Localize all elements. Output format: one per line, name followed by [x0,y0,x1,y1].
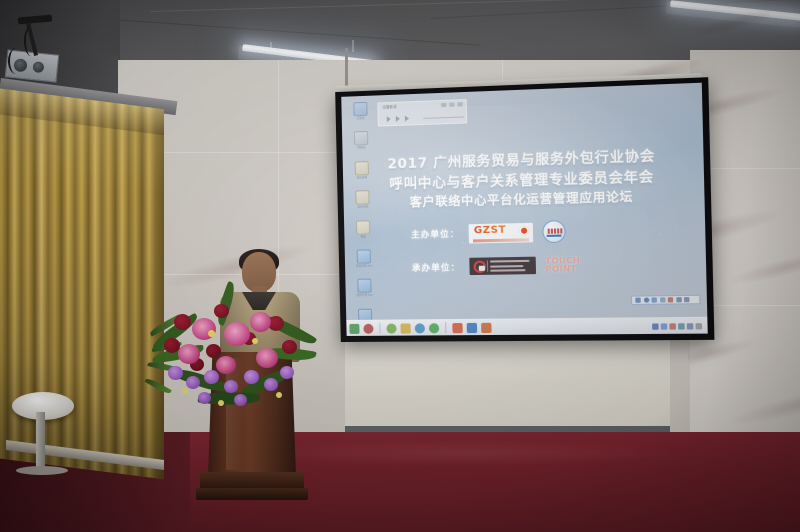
floating-tray-widget[interactable] [631,295,701,305]
document-icon [357,279,371,293]
logo-text-line [490,269,525,272]
widget-icon-6[interactable] [676,297,682,302]
widget-icon-3[interactable] [651,297,657,302]
orchid-bloom [244,370,259,384]
sponsor-row-organizer: 主办单位： GZST [396,220,566,246]
carpet-highlight [250,440,680,466]
taskbar-icon-media[interactable] [452,322,462,332]
circle-logo-base [547,235,562,237]
circle-logo-bars [548,228,563,233]
play-icon[interactable] [396,116,400,122]
taskbar-system-tray[interactable] [652,323,704,330]
desktop-icon-recycle[interactable]: 回收站 [346,131,376,150]
accent-flower [218,400,224,406]
accent-flower [276,392,282,398]
screen-ceiling-bracket [345,48,348,90]
tray-icon-misc[interactable] [695,323,702,329]
rose-bloom [282,340,297,354]
media-player-window[interactable]: 迅雷影音 [377,99,467,127]
media-player-seek-bar[interactable] [423,116,464,118]
desktop-icon-doc-1[interactable]: 年会议程.doc [349,249,379,268]
desktop-icon-label: 回收站 [346,146,376,150]
slide-title-block: 2017 广州服务贸易与服务外包行业协会 呼叫中心与客户关系管理专业委员会年会 … [343,146,705,214]
next-icon[interactable] [405,115,409,121]
projected-image: 计算机 回收站 会议资料 演示文稿 视频 [341,83,707,336]
tray-icon-volume[interactable] [661,323,668,329]
taskbar-divider [379,323,380,334]
bar-stool-base [16,466,68,475]
document-icon [357,249,371,263]
desktop-icon-label: 计算机 [346,117,376,121]
desktop-icon-doc-2[interactable]: 嘉宾名单.doc [349,279,379,298]
desktop-icon-column: 计算机 回收站 会议资料 演示文稿 视频 [345,102,380,336]
minimize-icon[interactable] [441,103,446,107]
close-icon[interactable] [458,102,463,106]
touch-point-logo: TOUCH POINT [545,256,592,274]
sponsor-label-coorganizer: 承办单位： [397,260,460,273]
widget-icon-2[interactable] [643,297,649,302]
accent-flower [252,338,258,344]
rose-bloom [206,344,221,358]
tray-icon-security[interactable] [669,323,676,329]
widget-icon-5[interactable] [668,297,674,302]
podium-plinth [196,488,308,500]
lily-bloom [250,312,271,332]
orchid-bloom [224,380,238,393]
orchid-bloom [234,394,247,406]
orchid-bloom [280,366,294,379]
widget-icon-4[interactable] [660,297,666,302]
wall-lower-panel [345,338,670,428]
orchid-bloom [198,392,211,404]
previous-icon[interactable] [387,116,391,122]
accent-flower [182,388,188,394]
association-circle-logo [542,220,566,243]
tray-icon-network[interactable] [652,323,659,329]
projection-screen: 计算机 回收站 会议资料 演示文稿 视频 [335,77,714,342]
c-mark-icon [473,260,486,272]
desktop-icon-computer[interactable]: 计算机 [345,102,375,122]
taskbar-icon-explorer[interactable] [400,323,410,333]
tray-icon-input[interactable] [678,323,685,329]
stage-curtain [0,88,164,479]
widget-icon-1[interactable] [635,298,640,303]
taskbar-icon-camera[interactable] [467,322,478,332]
sponsor-label-organizer: 主办单位： [396,227,459,240]
media-player-window-buttons [441,102,463,107]
gzst-logo: GZST [469,222,534,243]
desktop-icon-folder-3[interactable]: 视频 [348,220,378,239]
logo-text-line [490,265,523,268]
speaker-cable [8,48,24,74]
taskbar-icon-browser[interactable] [349,323,359,333]
taskbar-icon-ppt[interactable] [481,322,492,332]
taskbar-icon-qq[interactable] [363,323,373,333]
rose-bloom [174,314,191,330]
tray-icon-update[interactable] [687,323,694,329]
curtain-shading [0,88,164,479]
conference-hall-photo: 计算机 回收站 会议资料 演示文稿 视频 [0,0,800,532]
windows-taskbar[interactable] [346,317,707,336]
speaker-cone-icon [32,61,44,73]
lily-bloom [216,356,236,374]
bar-stool-stem [36,412,45,470]
logo-divider [487,261,488,272]
lily-bloom [256,348,278,368]
lily-bloom [224,322,250,346]
taskbar-icon-ie[interactable] [415,323,425,333]
lily-bloom [178,344,200,364]
desktop-icon-label: 视频 [348,235,378,239]
orchid-bloom [204,370,219,384]
folder-icon [356,220,370,234]
dark-c-logo [469,257,536,275]
rose-bloom [214,304,229,318]
speaker-cable [24,26,38,56]
recycle-bin-icon [354,131,368,146]
sponsor-row-coorganizer: 承办单位： TOUCH POINT [397,256,592,276]
widget-icon-7[interactable] [684,297,690,302]
orchid-bloom [168,366,183,380]
flower-arrangement [152,300,312,418]
computer-icon [353,102,367,117]
gzst-logo-subtitle [473,238,529,242]
gear-icon [519,225,529,234]
taskbar-icon-chrome[interactable] [386,323,396,333]
orchid-bloom [264,378,278,391]
orchid-bloom [186,376,200,389]
desktop-icon-label: 嘉宾名单.doc [350,294,380,298]
media-player-controls [387,115,409,122]
taskbar-icon-wechat[interactable] [429,323,439,333]
gzst-logo-text: GZST [474,224,506,236]
accent-flower [208,330,215,337]
maximize-icon[interactable] [449,103,454,107]
logo-text-line [490,260,530,263]
desktop-icon-label: 年会议程.doc [349,264,379,268]
touch-point-line-2: POINT [545,264,577,274]
taskbar-divider [445,322,446,333]
